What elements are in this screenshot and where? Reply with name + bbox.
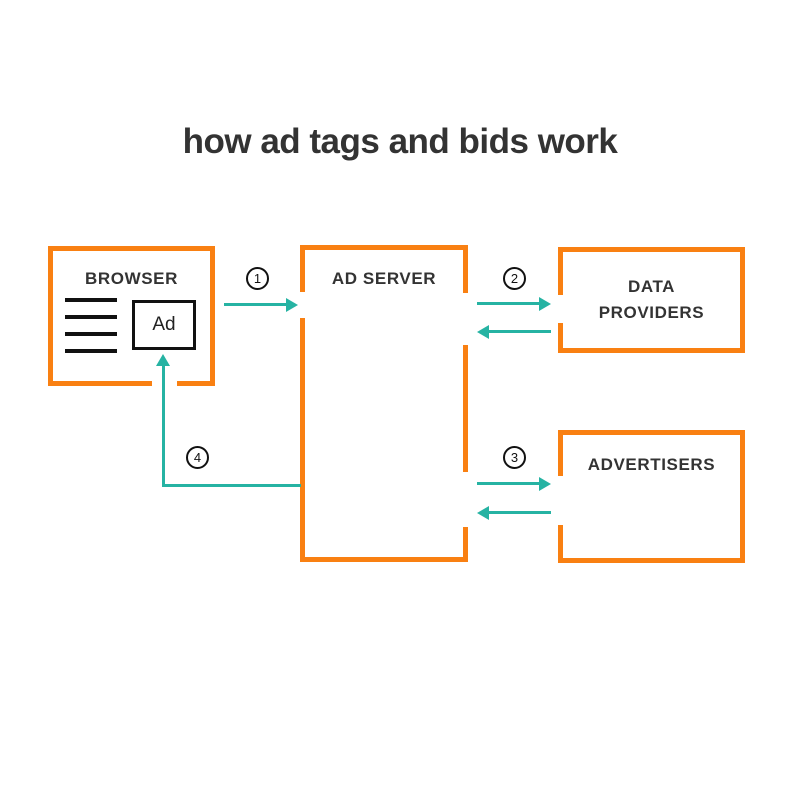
step3-arrow-in-line xyxy=(489,511,551,514)
browser-text-line xyxy=(65,349,117,353)
step-badge-2: 2 xyxy=(503,267,526,290)
node-browser[interactable]: BROWSER Ad xyxy=(48,246,215,386)
step2-arrowhead-in xyxy=(477,325,489,339)
advertisers-label: ADVERTISERS xyxy=(558,452,745,478)
advertisers-border-top xyxy=(558,430,745,435)
step4-arrow-vertical xyxy=(162,366,165,487)
browser-ad-slot[interactable]: Ad xyxy=(132,300,196,350)
data-providers-border-left-lower xyxy=(558,323,563,353)
ad-server-border-top xyxy=(300,245,468,250)
step-badge-1: 1 xyxy=(246,267,269,290)
browser-label: BROWSER xyxy=(48,266,215,292)
step2-arrow-in-line xyxy=(489,330,551,333)
advertisers-border-bottom xyxy=(558,558,745,563)
step-badge-3: 3 xyxy=(503,446,526,469)
node-ad-server[interactable]: AD SERVER xyxy=(300,245,468,562)
step-badge-4: 4 xyxy=(186,446,209,469)
browser-text-line xyxy=(65,298,117,302)
ad-server-border-bottom xyxy=(300,557,468,562)
ad-slot-label: Ad xyxy=(152,314,175,336)
ad-server-label: AD SERVER xyxy=(300,266,468,292)
ad-server-border-right-middle xyxy=(463,345,468,472)
data-providers-border-bottom xyxy=(558,348,745,353)
node-advertisers[interactable]: ADVERTISERS xyxy=(558,430,745,563)
step1-arrowhead xyxy=(286,298,298,312)
data-providers-label: DATA PROVIDERS xyxy=(558,274,745,327)
step3-arrow-out-line xyxy=(477,482,539,485)
step4-arrowhead xyxy=(156,354,170,366)
step2-arrowhead-out xyxy=(539,297,551,311)
step3-arrowhead-in xyxy=(477,506,489,520)
step4-arrow-horizontal xyxy=(162,484,301,487)
data-providers-border-top xyxy=(558,247,745,252)
advertisers-border-right xyxy=(740,430,745,563)
data-providers-label-line2: PROVIDERS xyxy=(599,303,705,322)
browser-border-top xyxy=(48,246,215,251)
browser-border-bottom-right-segment xyxy=(177,381,215,386)
step1-arrow-line xyxy=(224,303,286,306)
step2-arrow-out-line xyxy=(477,302,539,305)
advertisers-border-left-lower xyxy=(558,525,563,563)
browser-text-line xyxy=(65,315,117,319)
page-title: how ad tags and bids work xyxy=(0,122,800,162)
node-data-providers[interactable]: DATA PROVIDERS xyxy=(558,247,745,353)
browser-border-bottom-left-segment xyxy=(48,381,152,386)
browser-text-line xyxy=(65,332,117,336)
diagram-canvas: how ad tags and bids work BROWSER Ad AD … xyxy=(0,0,800,800)
step3-arrowhead-out xyxy=(539,477,551,491)
ad-server-border-left-lower xyxy=(300,318,305,562)
data-providers-label-line1: DATA xyxy=(628,277,675,296)
ad-server-border-right-lower xyxy=(463,527,468,562)
